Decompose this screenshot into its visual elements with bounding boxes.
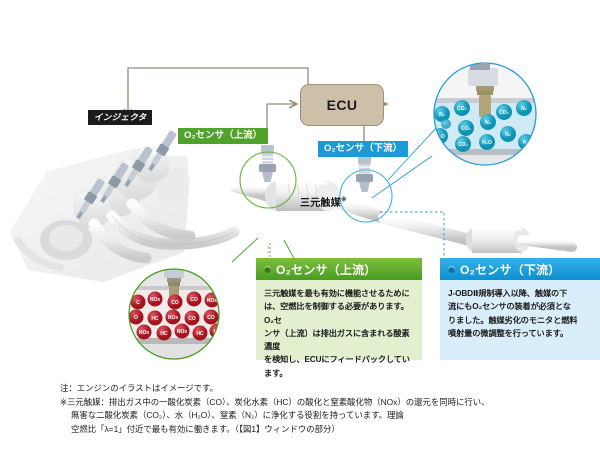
body-line: りました。触媒劣化のモニタと燃料	[448, 314, 598, 327]
svg-text:N₂: N₂	[505, 132, 511, 138]
catalyst-label-text: 三元触媒	[300, 198, 341, 209]
body-line: ンサ（上流）は排出ガスに含まれる酸素濃度	[264, 327, 414, 354]
o2-sensor-upstream-label: O₂センサ（上流）	[178, 128, 268, 144]
svg-text:CO₂: CO₂	[458, 142, 468, 148]
footnote-line-3: 無害な二酸化炭素（CO₂）、水（H₂O）、窒素（N₂）に浄化する役割を持っていま…	[60, 409, 590, 423]
svg-text:C: C	[136, 300, 140, 306]
body-line: を検知し、ECUにフィードバックしています。	[264, 353, 414, 380]
bullet-dot-icon	[264, 266, 271, 273]
info-box-upstream-title: O₂センサ（上流）	[276, 261, 376, 278]
footnote-line-2: ※三元触媒：排出ガス中の一酸化炭素（CO）、炭化水素（HC）の酸化と窒素酸化物（…	[60, 396, 590, 410]
svg-text:N₂: N₂	[521, 106, 527, 112]
info-box-upstream-header: O₂センサ（上流）	[256, 258, 422, 280]
svg-text:NOx: NOx	[168, 315, 179, 321]
svg-text:NOx: NOx	[139, 330, 150, 336]
svg-text:CO: CO	[190, 297, 198, 303]
svg-text:H₂O: H₂O	[482, 140, 492, 146]
o2-sensor-downstream-body	[356, 155, 373, 192]
info-box-downstream-title: O₂センサ（下流）	[460, 261, 560, 278]
svg-text:NOx: NOx	[177, 329, 188, 335]
catalyst-footnote-mark: ※	[341, 198, 347, 204]
svg-text:HC: HC	[160, 331, 168, 337]
body-line: 三元触媒を最も有効に機能させるために	[264, 287, 414, 300]
body-line: J-OBDⅡ規制導入以降、触媒の下	[448, 287, 598, 300]
footnote-line-1: 注：エンジンのイラストはイメージです。	[60, 382, 590, 396]
footnote-line-4: 空燃比「λ=1」付近で最も有効に働きます。（【図1】ウィンドウの部分）	[60, 423, 590, 437]
pre-catalyst-gas-closeup: C NOx CO CO NOx O HC NOx CO CO NOx HC NO…	[126, 268, 222, 360]
post-catalyst-gas-closeup: N₂ CO₂ CO₂ N₂ CO₂ N₂ H₂O CO₂ H₂O N₂ N₂	[430, 62, 540, 166]
svg-text:CO₂: CO₂	[457, 106, 467, 112]
body-line: 噴射量の微調整を行っています。	[448, 327, 598, 340]
info-box-downstream-body: J-OBDⅡ規制導入以降、触媒の下 流にもO₂センサの装着が必須とな りました。…	[440, 280, 600, 340]
bullet-dot-icon	[448, 266, 455, 273]
info-box-downstream-header: O₂センサ（下流）	[440, 258, 600, 280]
svg-text:N₂: N₂	[485, 120, 491, 126]
svg-text:CO: CO	[207, 315, 215, 321]
svg-text:CO: CO	[171, 300, 179, 306]
svg-text:N₂: N₂	[439, 112, 445, 118]
svg-text:CO₂: CO₂	[499, 110, 509, 116]
info-box-upstream: O₂センサ（上流） 三元触媒を最も有効に機能させるために は、空燃比を制御する必…	[256, 258, 422, 360]
footnotes: 注：エンジンのイラストはイメージです。 ※三元触媒：排出ガス中の一酸化炭素（CO…	[60, 382, 590, 436]
body-line: は、空燃比を制御する必要があります。O₂セ	[264, 300, 414, 327]
ecu-label: ECU	[327, 97, 358, 113]
o2-sensor-downstream-label: O₂センサ（下流）	[318, 141, 408, 157]
o2-sensor-upstream-body	[259, 145, 276, 182]
catalyst-label: 三元触媒※	[300, 194, 347, 209]
info-box-downstream: O₂センサ（下流） J-OBDⅡ規制導入以降、触媒の下 流にもO₂センサの装着が…	[440, 258, 600, 360]
svg-text:CO: CO	[188, 316, 196, 322]
svg-text:HC: HC	[151, 316, 159, 322]
ecu-box: ECU	[300, 84, 384, 126]
body-line: 流にもO₂センサの装着が必須とな	[448, 300, 598, 313]
injector-label: インジェクタ	[88, 110, 152, 125]
svg-text:NOx: NOx	[150, 297, 161, 303]
svg-text:HC: HC	[196, 331, 204, 337]
info-box-upstream-body: 三元触媒を最も有効に機能させるために は、空燃比を制御する必要があります。O₂セ…	[256, 280, 422, 380]
svg-text:O: O	[134, 315, 138, 321]
svg-text:CO₂: CO₂	[461, 126, 471, 132]
